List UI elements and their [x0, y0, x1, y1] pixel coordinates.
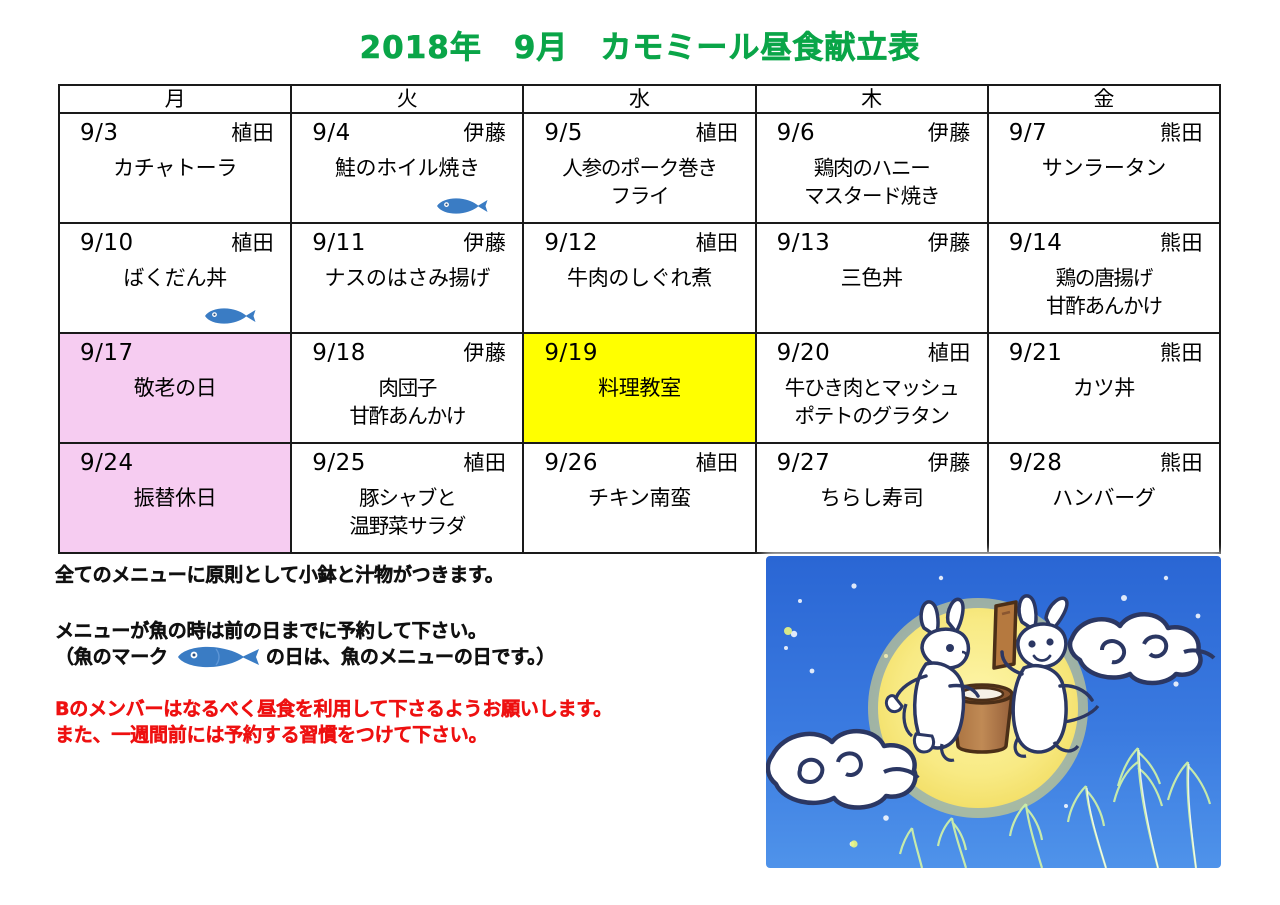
cell-menu-text: 鮭のホイル焼き: [292, 148, 522, 182]
note-red-line-2: また、一週間前には予約する習慣をつけて下さい。: [55, 722, 755, 748]
notes-section: 全てのメニューに原則として小鉢と汁物がつきます。 メニューが魚の時は前の日までに…: [55, 562, 755, 748]
cell-menu-text: 三色丼: [757, 258, 987, 292]
menu-cell[interactable]: 9/24振替休日: [59, 443, 291, 553]
cell-header: 9/17: [60, 334, 290, 368]
note-line-2: メニューが魚の時は前の日までに予約して下さい。: [55, 618, 755, 644]
cell-menu-text: ハンバーグ: [989, 478, 1219, 512]
page-title: 2018年 9月 カモミール昼食献立表: [0, 22, 1280, 67]
cell-staff-name: 植田: [231, 228, 274, 258]
cell-date: 9/19: [544, 338, 598, 368]
cell-date: 9/27: [777, 448, 831, 478]
cell-date: 9/24: [80, 448, 134, 478]
cell-menu-text: 豚シャブと 温野菜サラダ: [292, 478, 522, 540]
cell-header: 9/26植田: [524, 444, 754, 478]
menu-cell[interactable]: 9/3植田カチャトーラ: [59, 113, 291, 223]
cell-staff-name: 熊田: [1160, 228, 1203, 258]
menu-cell[interactable]: 9/17敬老の日: [59, 333, 291, 443]
pestle: [994, 602, 1016, 668]
cell-staff-name: 伊藤: [463, 228, 506, 258]
cell-staff-name: 伊藤: [463, 118, 506, 148]
cell-menu-text: カチャトーラ: [60, 148, 290, 182]
cell-menu-text: 料理教室: [524, 368, 754, 402]
menu-calendar: 月 火 水 木 金 9/3植田カチャトーラ9/4伊藤鮭のホイル焼き9/5植田人参…: [58, 84, 1221, 554]
cell-staff-name: 熊田: [1160, 118, 1203, 148]
cell-header: 9/6伊藤: [757, 114, 987, 148]
cell-date: 9/21: [1009, 338, 1063, 368]
cell-staff-name: 植田: [928, 338, 971, 368]
cell-menu-text: ばくだん丼: [60, 258, 290, 292]
cell-menu-text: チキン南蛮: [524, 478, 754, 512]
cell-staff-name: 植田: [696, 228, 739, 258]
cell-staff-name: 伊藤: [463, 338, 506, 368]
cell-date: 9/6: [777, 118, 816, 148]
weekday-header-thu: 木: [756, 85, 988, 113]
cell-date: 9/5: [544, 118, 583, 148]
cell-header: 9/12植田: [524, 224, 754, 258]
cell-date: 9/11: [312, 228, 366, 258]
table-row: 9/10植田ばくだん丼9/11伊藤ナスのはさみ揚げ9/12植田牛肉のしぐれ煮9/…: [59, 223, 1220, 333]
cell-menu-text: ちらし寿司: [757, 478, 987, 512]
cell-menu-text: 牛肉のしぐれ煮: [524, 258, 754, 292]
fish-icon: [174, 644, 260, 670]
menu-cell[interactable]: 9/25植田豚シャブと 温野菜サラダ: [291, 443, 523, 553]
cell-staff-name: 伊藤: [928, 228, 971, 258]
cell-date: 9/13: [777, 228, 831, 258]
menu-table: 月 火 水 木 金 9/3植田カチャトーラ9/4伊藤鮭のホイル焼き9/5植田人参…: [58, 84, 1221, 554]
cell-menu-text: 鶏の唐揚げ 甘酢あんかけ: [989, 258, 1219, 320]
cell-header: 9/21熊田: [989, 334, 1219, 368]
cell-staff-name: 植田: [231, 118, 274, 148]
cell-staff-name: 植田: [696, 448, 739, 478]
cell-header: 9/20植田: [757, 334, 987, 368]
note-paragraph-1: 全てのメニューに原則として小鉢と汁物がつきます。: [55, 562, 755, 588]
menu-cell[interactable]: 9/14熊田鶏の唐揚げ 甘酢あんかけ: [988, 223, 1220, 333]
cell-header: 9/7熊田: [989, 114, 1219, 148]
cell-date: 9/14: [1009, 228, 1063, 258]
menu-cell[interactable]: 9/6伊藤鶏肉のハニー マスタード焼き: [756, 113, 988, 223]
table-body: 9/3植田カチャトーラ9/4伊藤鮭のホイル焼き9/5植田人参のポーク巻き フライ…: [59, 113, 1220, 553]
cell-menu-text: 敬老の日: [60, 368, 290, 402]
note-paragraph-red: Bのメンバーはなるべく昼食を利用して下さるようお願いします。 また、一週間前には…: [55, 696, 755, 748]
menu-cell[interactable]: 9/18伊藤肉団子 甘酢あんかけ: [291, 333, 523, 443]
note-line-3-after: の日は、魚のメニューの日です。）: [266, 644, 555, 670]
menu-cell[interactable]: 9/11伊藤ナスのはさみ揚げ: [291, 223, 523, 333]
table-row: 9/24振替休日9/25植田豚シャブと 温野菜サラダ9/26植田チキン南蛮9/2…: [59, 443, 1220, 553]
cell-date: 9/17: [80, 338, 134, 368]
fish-icon: [202, 306, 256, 326]
table-row: 9/17敬老の日9/18伊藤肉団子 甘酢あんかけ9/19料理教室9/20植田牛ひ…: [59, 333, 1220, 443]
weekday-header-wed: 水: [523, 85, 755, 113]
note-line-3: （魚のマーク の日は、魚のメニューの日です。）: [55, 644, 755, 670]
cell-header: 9/3植田: [60, 114, 290, 148]
cell-header: 9/24: [60, 444, 290, 478]
menu-cell[interactable]: 9/13伊藤三色丼: [756, 223, 988, 333]
cell-date: 9/20: [777, 338, 831, 368]
note-line-1: 全てのメニューに原則として小鉢と汁物がつきます。: [55, 562, 755, 588]
menu-cell[interactable]: 9/10植田ばくだん丼: [59, 223, 291, 333]
cell-staff-name: 伊藤: [928, 448, 971, 478]
weekday-header-mon: 月: [59, 85, 291, 113]
table-row: 9/3植田カチャトーラ9/4伊藤鮭のホイル焼き9/5植田人参のポーク巻き フライ…: [59, 113, 1220, 223]
cell-header: 9/5植田: [524, 114, 754, 148]
cell-date: 9/3: [80, 118, 119, 148]
cell-date: 9/26: [544, 448, 598, 478]
menu-cell[interactable]: 9/5植田人参のポーク巻き フライ: [523, 113, 755, 223]
cell-menu-text: 振替休日: [60, 478, 290, 512]
cell-header: 9/27伊藤: [757, 444, 987, 478]
cell-header: 9/28熊田: [989, 444, 1219, 478]
cell-date: 9/25: [312, 448, 366, 478]
cell-menu-text: 牛ひき肉とマッシュ ポテトのグラタン: [757, 368, 987, 430]
cell-header: 9/19: [524, 334, 754, 368]
menu-cell[interactable]: 9/4伊藤鮭のホイル焼き: [291, 113, 523, 223]
weekday-header-tue: 火: [291, 85, 523, 113]
menu-cell[interactable]: 9/7熊田サンラータン: [988, 113, 1220, 223]
menu-cell[interactable]: 9/20植田牛ひき肉とマッシュ ポテトのグラタン: [756, 333, 988, 443]
cell-menu-text: ナスのはさみ揚げ: [292, 258, 522, 292]
menu-cell[interactable]: 9/19料理教室: [523, 333, 755, 443]
cell-menu-text: カツ丼: [989, 368, 1219, 402]
cell-staff-name: 熊田: [1160, 338, 1203, 368]
menu-cell[interactable]: 9/21熊田カツ丼: [988, 333, 1220, 443]
menu-cell[interactable]: 9/12植田牛肉のしぐれ煮: [523, 223, 755, 333]
cell-date: 9/12: [544, 228, 598, 258]
fish-icon: [434, 196, 488, 216]
cell-header: 9/18伊藤: [292, 334, 522, 368]
menu-cell[interactable]: 9/26植田チキン南蛮: [523, 443, 755, 553]
cell-header: 9/4伊藤: [292, 114, 522, 148]
cell-header: 9/11伊藤: [292, 224, 522, 258]
cell-staff-name: 植田: [463, 448, 506, 478]
note-paragraph-2: メニューが魚の時は前の日までに予約して下さい。 （魚のマーク の日は、魚のメニュ…: [55, 618, 755, 670]
menu-cell[interactable]: 9/28熊田ハンバーグ: [988, 443, 1220, 553]
cell-date: 9/4: [312, 118, 351, 148]
cell-date: 9/10: [80, 228, 134, 258]
cell-menu-text: サンラータン: [989, 148, 1219, 182]
cell-header: 9/13伊藤: [757, 224, 987, 258]
cell-header: 9/14熊田: [989, 224, 1219, 258]
cell-date: 9/7: [1009, 118, 1048, 148]
cell-header: 9/10植田: [60, 224, 290, 258]
menu-cell[interactable]: 9/27伊藤ちらし寿司: [756, 443, 988, 553]
note-red-line-1: Bのメンバーはなるべく昼食を利用して下さるようお願いします。: [55, 696, 755, 722]
weekday-header-fri: 金: [988, 85, 1220, 113]
menu-sheet-page: 2018年 9月 カモミール昼食献立表 月 火 水 木 金 9/3植田カチャトー…: [0, 0, 1280, 905]
tsukimi-illustration: [766, 556, 1221, 868]
cell-menu-text: 鶏肉のハニー マスタード焼き: [757, 148, 987, 210]
cell-staff-name: 伊藤: [928, 118, 971, 148]
cell-staff-name: 熊田: [1160, 448, 1203, 478]
table-header-row: 月 火 水 木 金: [59, 85, 1220, 113]
cell-staff-name: 植田: [696, 118, 739, 148]
cell-menu-text: 人参のポーク巻き フライ: [524, 148, 754, 210]
cell-date: 9/28: [1009, 448, 1063, 478]
cell-header: 9/25植田: [292, 444, 522, 478]
cell-menu-text: 肉団子 甘酢あんかけ: [292, 368, 522, 430]
cell-date: 9/18: [312, 338, 366, 368]
note-line-3-before: （魚のマーク: [55, 644, 168, 670]
